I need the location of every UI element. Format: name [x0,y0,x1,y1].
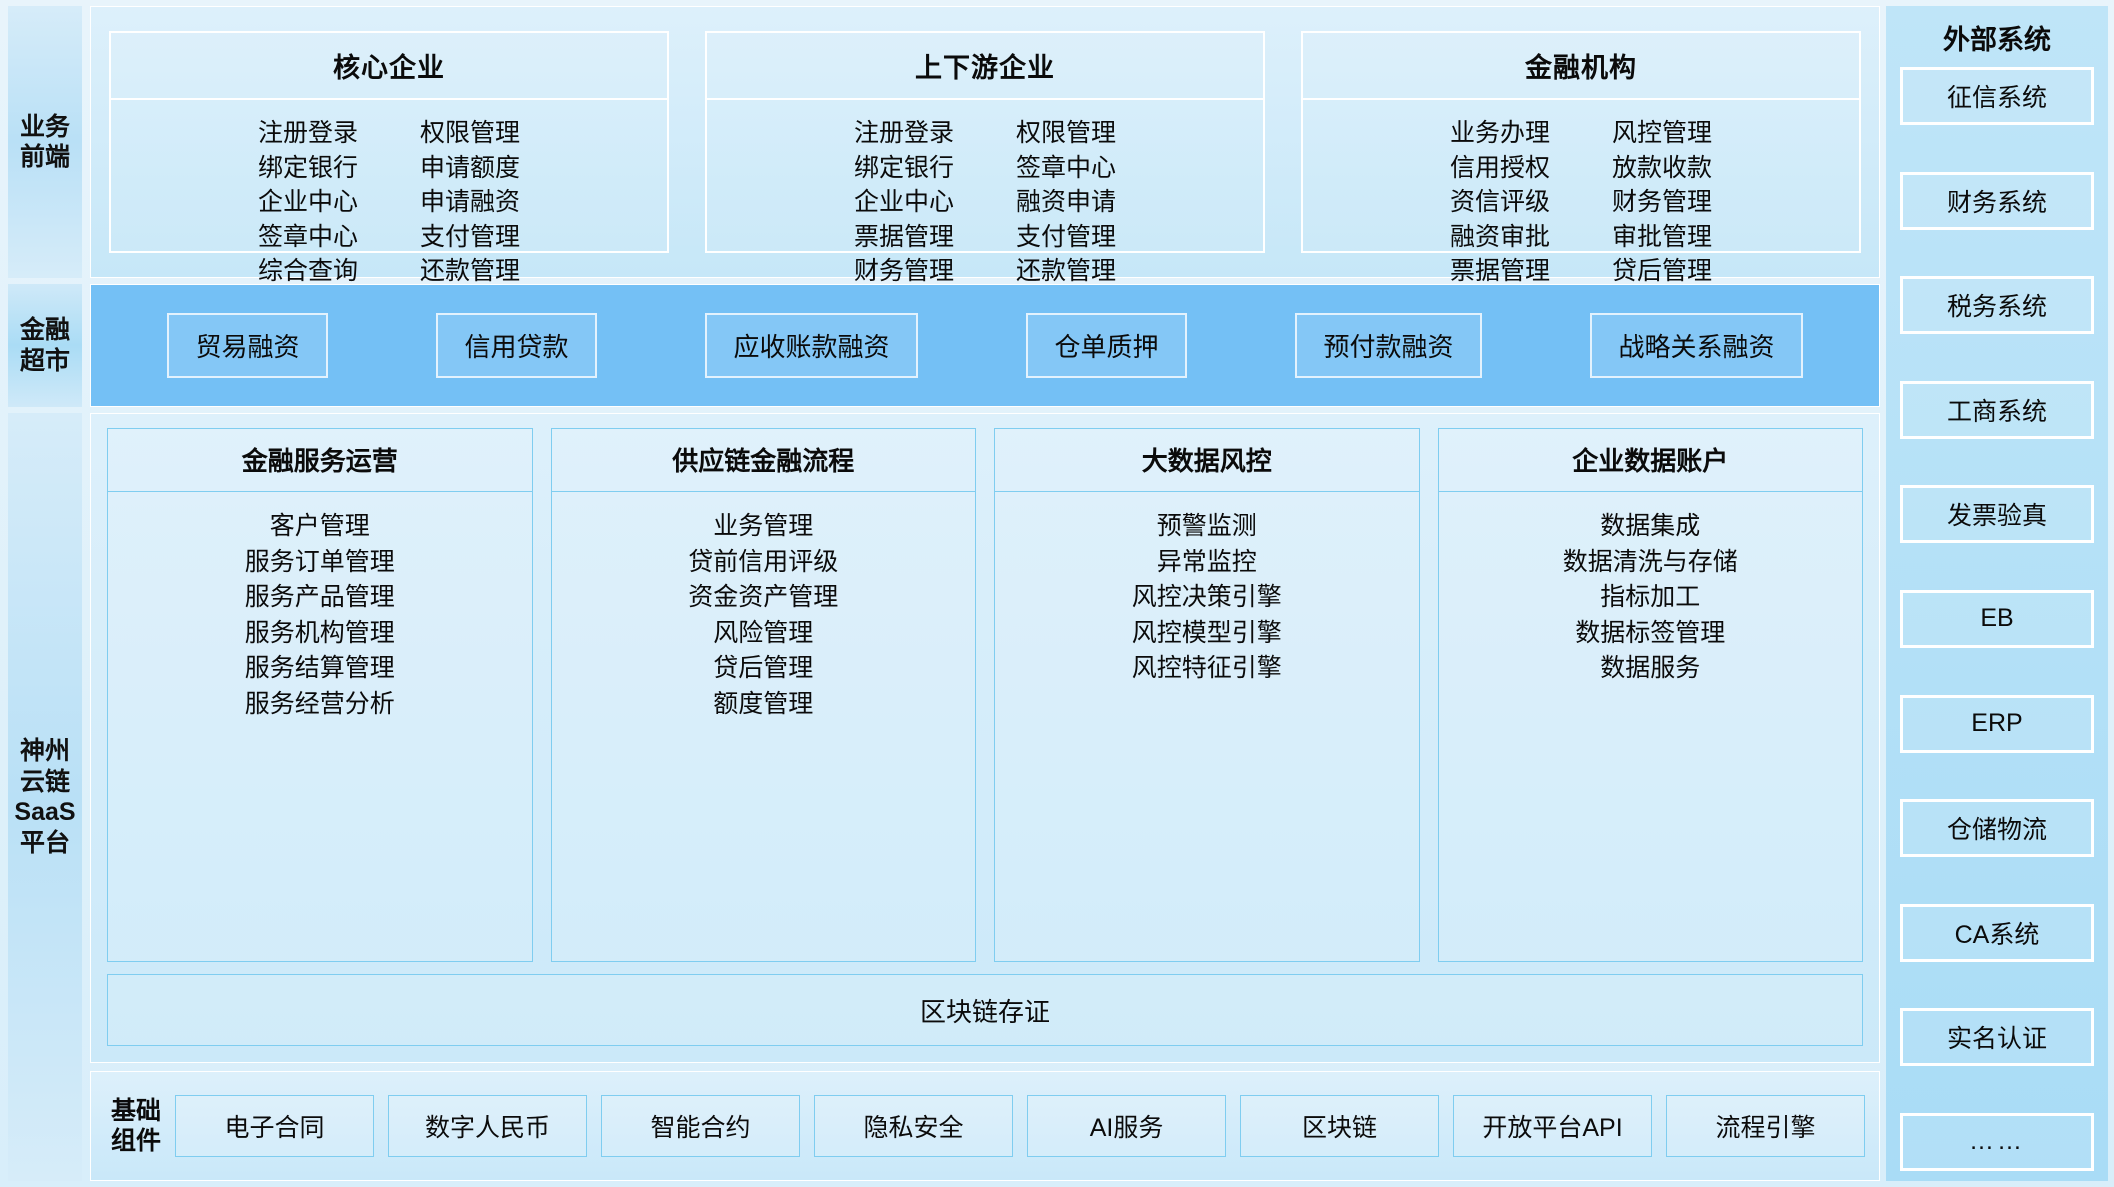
list-item: 异常监控 [1157,545,1257,581]
base-chip-process-engine[interactable]: 流程引擎 [1666,1095,1865,1157]
market-chip-credit-loan[interactable]: 信用贷款 [436,313,596,378]
external-chip-warehouse-logistics[interactable]: 仓储物流 [1900,799,2094,857]
list-item: 数据集成 [1600,509,1700,545]
front-card-upstream-downstream-enterprise[interactable]: 上下游企业 注册登录 绑定银行 企业中心 票据管理 财务管理 权限管理 签章中心… [705,31,1265,253]
list-item: 注册登录 [258,116,358,151]
saas-card-title: 企业数据账户 [1439,429,1863,492]
external-systems-list: 征信系统 财务系统 税务系统 工商系统 发票验真 EB ERP 仓储物流 CA系… [1900,67,2094,1171]
market-chip-receivables-finance[interactable]: 应收账款融资 [705,313,917,378]
external-systems-panel: 外部系统 征信系统 财务系统 税务系统 工商系统 发票验真 EB ERP 仓储物… [1886,6,2108,1181]
saas-card-body: 客户管理 服务订单管理 服务产品管理 服务机构管理 服务结算管理 服务经营分析 [108,492,532,961]
list-item: 信用授权 [1450,151,1550,186]
saas-main-panel: 金融服务运营 客户管理 服务订单管理 服务产品管理 服务机构管理 服务结算管理 … [90,413,1880,1063]
list-item: 融资审批 [1450,220,1550,255]
external-chip-finance-system[interactable]: 财务系统 [1900,172,2094,230]
external-chip-invoice-verification[interactable]: 发票验真 [1900,485,2094,543]
saas-card-enterprise-data-account[interactable]: 企业数据账户 数据集成 数据清洗与存储 指标加工 数据标签管理 数据服务 [1438,428,1864,962]
market-chip-warehouse-receipt-pledge[interactable]: 仓单质押 [1026,313,1186,378]
list-item: 贷前信用评级 [688,545,838,581]
list-item: 融资申请 [1016,185,1116,220]
list-item: 业务办理 [1450,116,1550,151]
front-card-column-2: 权限管理 申请额度 申请融资 支付管理 还款管理 [420,116,520,289]
list-item: 放款收款 [1612,151,1712,186]
architecture-diagram: 业务 前端 金融 超市 神州 云链 SaaS 平台 核心企业 注册登录 绑定银行… [0,0,2114,1187]
front-card-body: 业务办理 信用授权 资信评级 融资审批 票据管理 风控管理 放款收款 财务管理 … [1303,100,1859,289]
saas-card-title: 大数据风控 [995,429,1419,492]
saas-card-financial-service-operations[interactable]: 金融服务运营 客户管理 服务订单管理 服务产品管理 服务机构管理 服务结算管理 … [107,428,533,962]
external-chip-more[interactable]: …… [1900,1113,2094,1171]
saas-card-title: 供应链金融流程 [552,429,976,492]
list-item: 财务管理 [1612,185,1712,220]
list-item: 风控特征引擎 [1132,651,1282,687]
list-item: 数据服务 [1600,651,1700,687]
list-item: 审批管理 [1612,220,1712,255]
list-item: 数据标签管理 [1575,616,1725,652]
external-chip-tax-system[interactable]: 税务系统 [1900,276,2094,334]
front-card-column-2: 权限管理 签章中心 融资申请 支付管理 还款管理 [1016,116,1116,289]
front-card-column-2: 风控管理 放款收款 财务管理 审批管理 贷后管理 [1612,116,1712,289]
list-item: 绑定银行 [258,151,358,186]
row-label-financial-market: 金融 超市 [8,284,82,407]
external-chip-credit-reporting-system[interactable]: 征信系统 [1900,67,2094,125]
main-content-column: 核心企业 注册登录 绑定银行 企业中心 签章中心 综合查询 权限管理 申请额度 … [82,0,1886,1187]
front-card-core-enterprise[interactable]: 核心企业 注册登录 绑定银行 企业中心 签章中心 综合查询 权限管理 申请额度 … [109,31,669,253]
saas-card-body: 业务管理 贷前信用评级 资金资产管理 风险管理 贷后管理 额度管理 [552,492,976,961]
market-chip-trade-finance[interactable]: 贸易融资 [167,313,327,378]
row-label-business-frontend: 业务 前端 [8,6,82,278]
base-chip-ai-service[interactable]: AI服务 [1027,1095,1226,1157]
list-item: 业务管理 [713,509,813,545]
financial-market-band: 贸易融资 信用贷款 应收账款融资 仓单质押 预付款融资 战略关系融资 [90,284,1880,407]
list-item: 服务经营分析 [245,687,395,723]
external-chip-ca-system[interactable]: CA系统 [1900,904,2094,962]
external-chip-eb[interactable]: EB [1900,590,2094,648]
base-chip-smart-contract[interactable]: 智能合约 [601,1095,800,1157]
saas-platform-band: 金融服务运营 客户管理 服务订单管理 服务产品管理 服务机构管理 服务结算管理 … [90,413,1880,1181]
list-item: 资信评级 [1450,185,1550,220]
base-chip-electronic-contract[interactable]: 电子合同 [175,1095,374,1157]
row-label-column: 业务 前端 金融 超市 神州 云链 SaaS 平台 [0,0,82,1187]
front-card-column-1: 注册登录 绑定银行 企业中心 签章中心 综合查询 [258,116,358,289]
list-item: 风控管理 [1612,116,1712,151]
list-item: 风控决策引擎 [1132,580,1282,616]
list-item: 签章中心 [1016,151,1116,186]
market-chip-strategic-relationship-finance[interactable]: 战略关系融资 [1590,313,1802,378]
business-frontend-band: 核心企业 注册登录 绑定银行 企业中心 签章中心 综合查询 权限管理 申请额度 … [90,6,1880,278]
front-card-column-1: 注册登录 绑定银行 企业中心 票据管理 财务管理 [854,116,954,289]
saas-card-body: 数据集成 数据清洗与存储 指标加工 数据标签管理 数据服务 [1439,492,1863,961]
list-item: 资金资产管理 [688,580,838,616]
base-chip-open-platform-api[interactable]: 开放平台API [1453,1095,1652,1157]
external-systems-title: 外部系统 [1900,12,2094,67]
list-item: 申请额度 [420,151,520,186]
list-item: 支付管理 [1016,220,1116,255]
base-components-label: 基础 组件 [111,1096,161,1156]
front-card-title: 核心企业 [111,33,667,100]
front-card-body: 注册登录 绑定银行 企业中心 票据管理 财务管理 权限管理 签章中心 融资申请 … [707,100,1263,289]
list-item: 票据管理 [854,220,954,255]
blockchain-evidence-bar[interactable]: 区块链存证 [107,974,1863,1046]
list-item: 企业中心 [258,185,358,220]
list-item: 预警监测 [1157,509,1257,545]
list-item: 企业中心 [854,185,954,220]
base-chip-blockchain[interactable]: 区块链 [1240,1095,1439,1157]
base-chip-privacy-security[interactable]: 隐私安全 [814,1095,1013,1157]
list-item: 额度管理 [713,687,813,723]
saas-card-big-data-risk-control[interactable]: 大数据风控 预警监测 异常监控 风控决策引擎 风控模型引擎 风控特征引擎 [994,428,1420,962]
list-item: 服务产品管理 [245,580,395,616]
saas-card-supply-chain-finance-process[interactable]: 供应链金融流程 业务管理 贷前信用评级 资金资产管理 风险管理 贷后管理 额度管… [551,428,977,962]
front-card-title: 上下游企业 [707,33,1263,100]
external-chip-erp[interactable]: ERP [1900,695,2094,753]
list-item: 客户管理 [270,509,370,545]
list-item: 风控模型引擎 [1132,616,1282,652]
list-item: 服务结算管理 [245,651,395,687]
list-item: 支付管理 [420,220,520,255]
front-card-body: 注册登录 绑定银行 企业中心 签章中心 综合查询 权限管理 申请额度 申请融资 … [111,100,667,289]
market-chip-prepayment-finance[interactable]: 预付款融资 [1295,313,1481,378]
list-item: 注册登录 [854,116,954,151]
list-item: 签章中心 [258,220,358,255]
front-card-column-1: 业务办理 信用授权 资信评级 融资审批 票据管理 [1450,116,1550,289]
list-item: 申请融资 [420,185,520,220]
list-item: 权限管理 [1016,116,1116,151]
saas-card-title: 金融服务运营 [108,429,532,492]
list-item: 服务订单管理 [245,545,395,581]
list-item: 贷后管理 [713,651,813,687]
saas-card-row: 金融服务运营 客户管理 服务订单管理 服务产品管理 服务机构管理 服务结算管理 … [107,428,1863,962]
front-card-title: 金融机构 [1303,33,1859,100]
list-item: 数据清洗与存储 [1563,545,1738,581]
list-item: 权限管理 [420,116,520,151]
base-components-chip-row: 电子合同 数字人民币 智能合约 隐私安全 AI服务 区块链 开放平台API 流程… [175,1095,1865,1157]
front-card-financial-institution[interactable]: 金融机构 业务办理 信用授权 资信评级 融资审批 票据管理 风控管理 放款收款 … [1301,31,1861,253]
list-item: 服务机构管理 [245,616,395,652]
external-chip-real-name-authentication[interactable]: 实名认证 [1900,1008,2094,1066]
list-item: 指标加工 [1600,580,1700,616]
external-chip-business-registration-system[interactable]: 工商系统 [1900,381,2094,439]
base-components-band: 基础 组件 电子合同 数字人民币 智能合约 隐私安全 AI服务 区块链 开放平台… [90,1071,1880,1181]
saas-card-body: 预警监测 异常监控 风控决策引擎 风控模型引擎 风控特征引擎 [995,492,1419,961]
row-label-saas-platform: 神州 云链 SaaS 平台 [8,413,82,1181]
list-item: 风险管理 [713,616,813,652]
list-item: 绑定银行 [854,151,954,186]
base-chip-digital-rmb[interactable]: 数字人民币 [388,1095,587,1157]
